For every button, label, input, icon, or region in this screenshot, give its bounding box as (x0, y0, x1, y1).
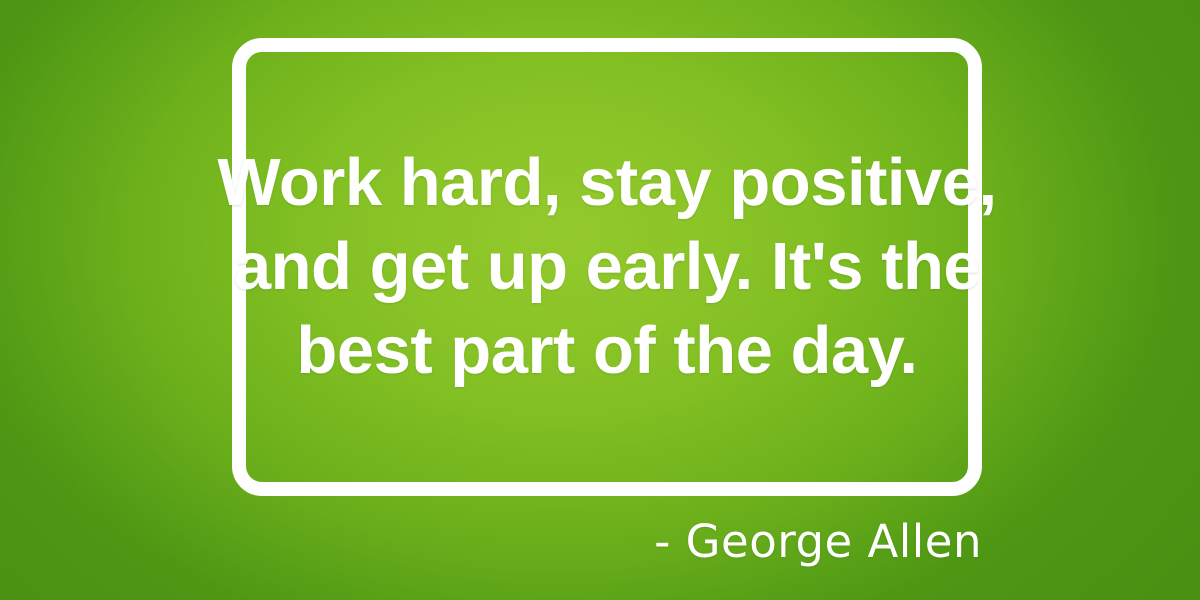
quote-line-3: best part of the day. (296, 309, 917, 393)
quote-line-2: and get up early. It's the (234, 225, 980, 309)
quote-attribution: - George Allen (654, 513, 982, 571)
quote-text-block: Work hard, stay positive, and get up ear… (232, 38, 982, 496)
quote-line-1: Work hard, stay positive, (217, 141, 996, 225)
quote-card: Work hard, stay positive, and get up ear… (0, 0, 1200, 600)
